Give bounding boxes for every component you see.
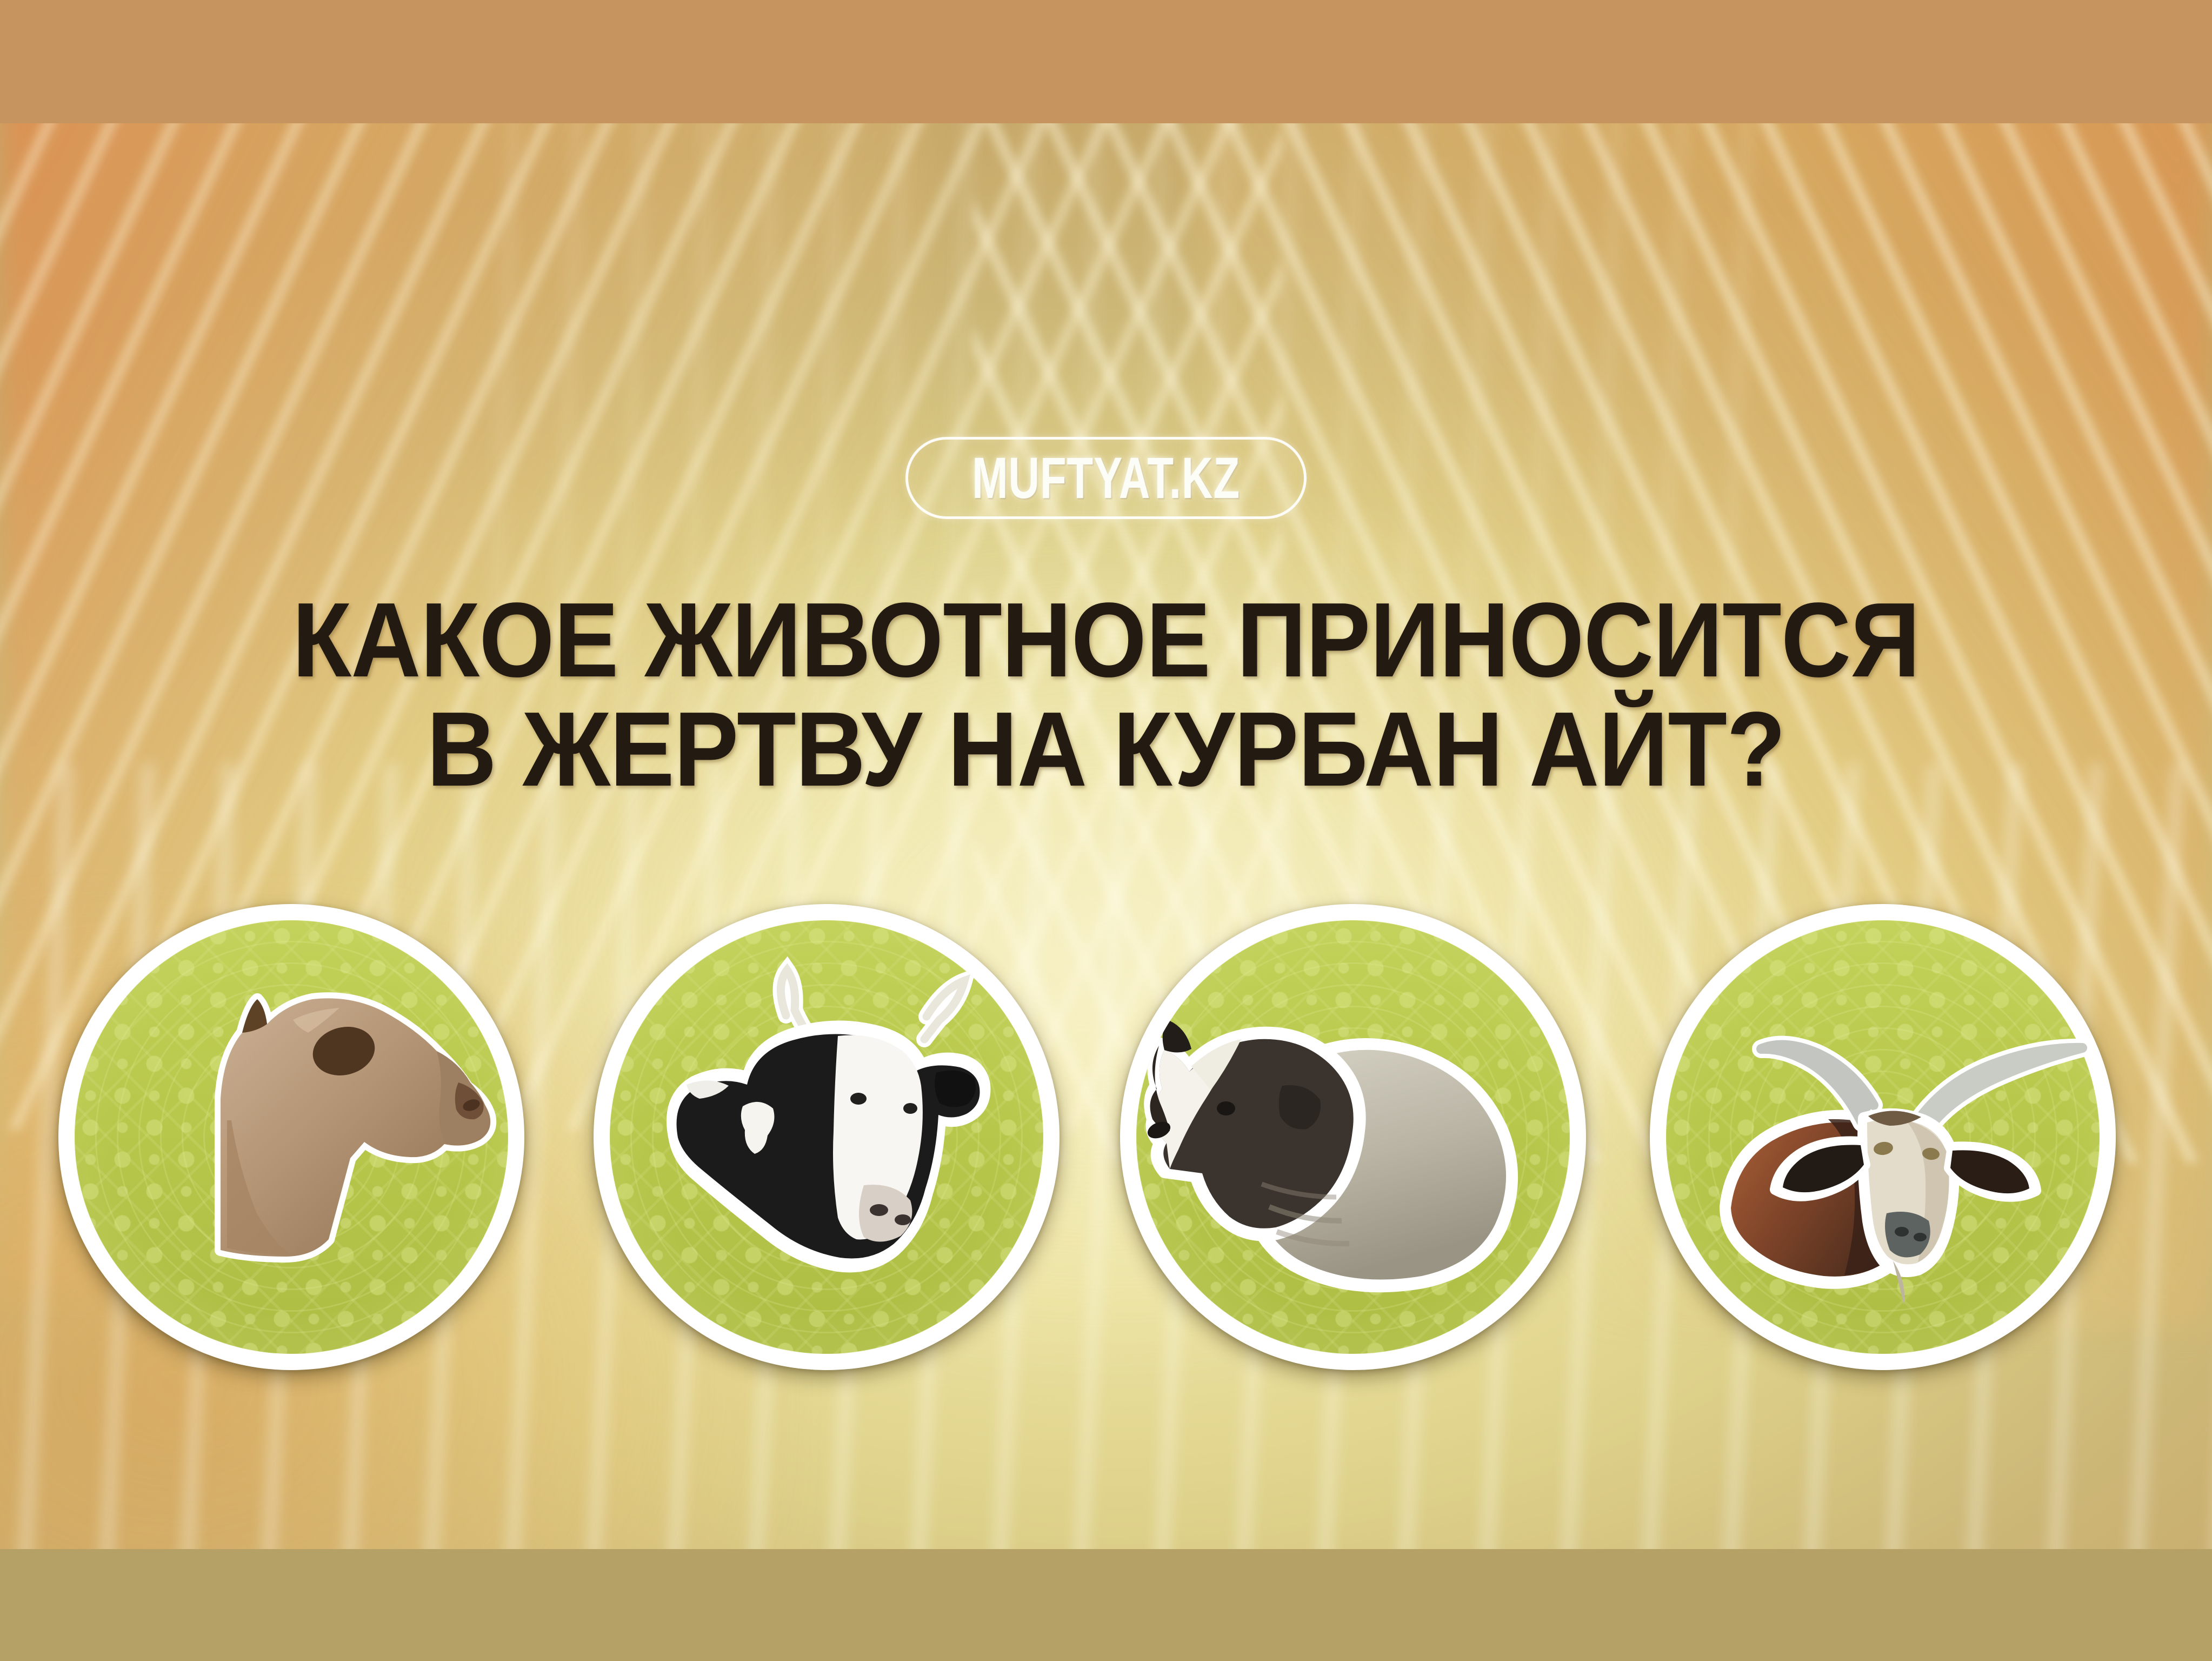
logo-area: MUFTYAT.KZ [0, 437, 2212, 519]
muftyat-logo-badge[interactable]: MUFTYAT.KZ [905, 437, 1307, 519]
letterbox-band-bottom [0, 1549, 2212, 1661]
cow-medallion[interactable] [594, 904, 1060, 1370]
sheep-icon [1120, 904, 1586, 1370]
animal-medallion-row [0, 904, 2212, 1412]
goat-icon [1650, 904, 2116, 1370]
letterbox-band-top [0, 0, 2212, 123]
cow-icon [594, 904, 1060, 1370]
poster-canvas: MUFTYAT.KZ КАКОЕ ЖИВОТНОЕ ПРИНОСИТСЯ В Ж… [0, 0, 2212, 1661]
camel-icon [58, 904, 524, 1370]
logo-label: MUFTYAT.KZ [972, 449, 1240, 507]
goat-medallion[interactable] [1650, 904, 2116, 1370]
camel-medallion[interactable] [58, 904, 524, 1370]
sheep-medallion[interactable] [1120, 904, 1586, 1370]
